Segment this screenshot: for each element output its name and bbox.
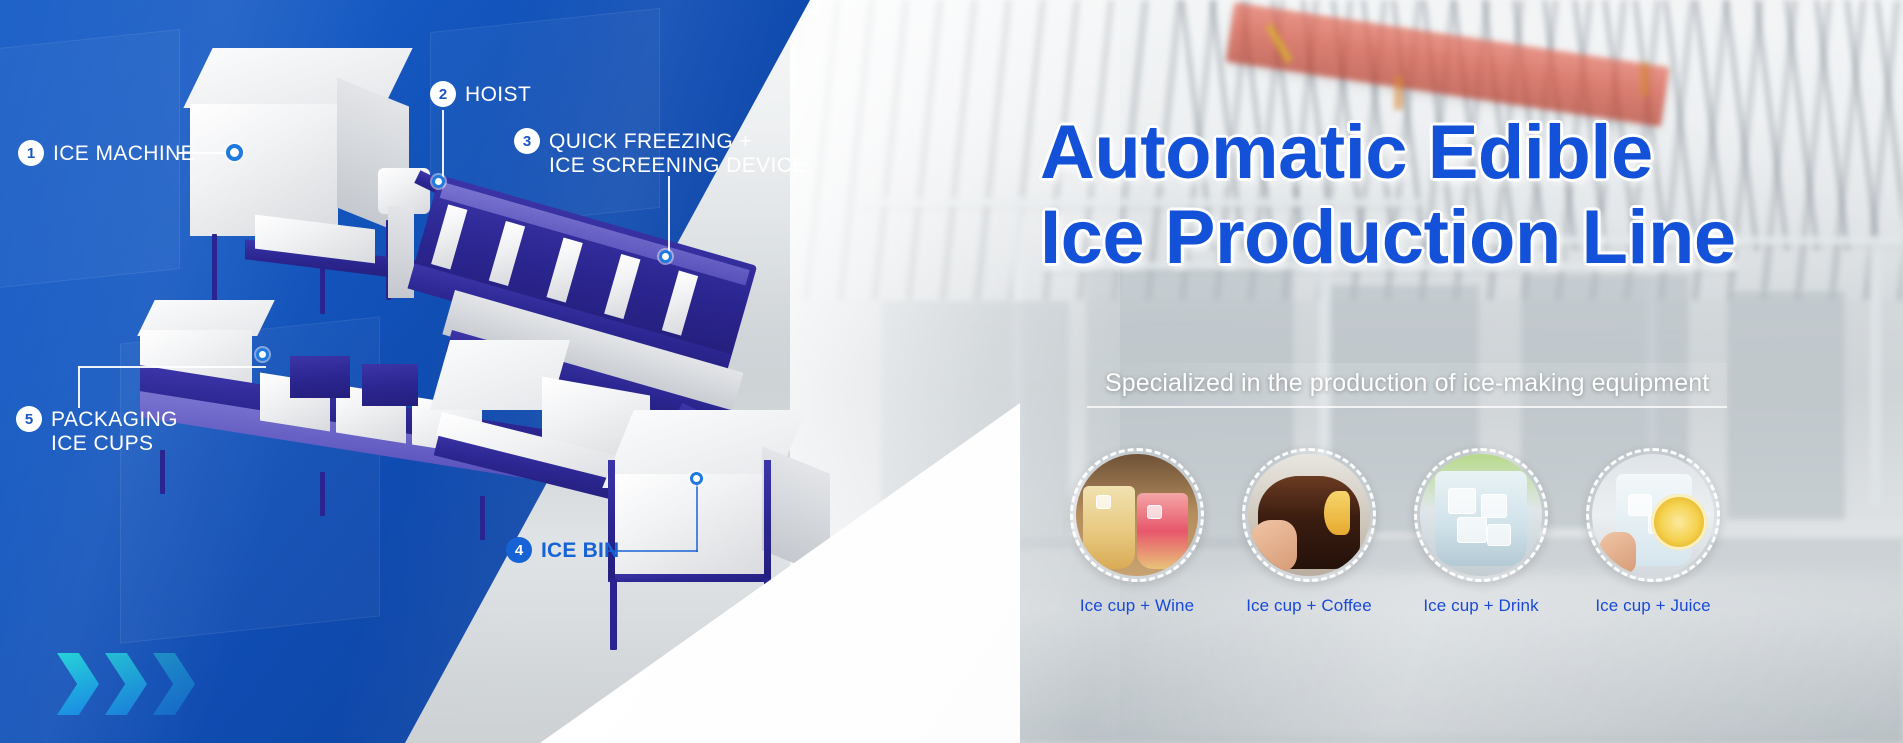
product-caption-wine: Ice cup + Wine <box>1080 596 1194 616</box>
packaging-filler-2 <box>362 364 418 406</box>
hotspot-ice-bin[interactable] <box>690 472 703 485</box>
page-subtitle: Specialized in the production of ice-mak… <box>1105 369 1709 398</box>
ice-bin-frame-right <box>764 460 771 580</box>
callout-ice-machine[interactable]: 1 ICE MACHINE <box>18 140 195 166</box>
hotspot-quick-freezing[interactable] <box>659 250 672 263</box>
page-title: Automatic Edible Ice Production Line <box>1040 110 1736 280</box>
chevron-icon-2 <box>105 653 147 715</box>
packaging-leg-2 <box>320 472 325 516</box>
chevron-icon-3 <box>153 653 195 715</box>
product-caption-juice: Ice cup + Juice <box>1595 596 1710 616</box>
wine-cup-right <box>1137 493 1188 569</box>
crane-hook-right <box>1640 62 1649 96</box>
callout-badge-4: 4 <box>506 537 532 563</box>
callout-label-packaging: PACKAGING ICE CUPS <box>51 406 178 455</box>
leader-line-4-v <box>696 480 698 552</box>
leader-line-5-v <box>78 366 80 408</box>
leader-line-2 <box>442 110 444 182</box>
callout-label-hoist: HOIST <box>465 81 531 107</box>
product-item-coffee[interactable]: Ice cup + Coffee <box>1235 448 1383 616</box>
product-caption-drink: Ice cup + Drink <box>1423 596 1538 616</box>
packaging-leg-3 <box>480 496 485 540</box>
subtitle-container: Specialized in the production of ice-mak… <box>1087 363 1727 408</box>
ice-bin-frame-bottom <box>608 574 770 582</box>
hotspot-packaging[interactable] <box>256 348 269 361</box>
callout-badge-3: 3 <box>514 128 540 154</box>
hotspot-hoist[interactable] <box>432 175 445 188</box>
callout-badge-2: 2 <box>430 81 456 107</box>
product-item-drink[interactable]: Ice cup + Drink <box>1407 448 1555 616</box>
hero-banner: 1 ICE MACHINE 2 HOIST 3 QUICK FREEZING +… <box>0 0 1903 743</box>
ice-cube-icon <box>1481 494 1507 518</box>
callout-badge-1: 1 <box>18 140 44 166</box>
crane-hook-left <box>1394 76 1403 110</box>
product-photo-juice <box>1586 448 1720 582</box>
hand-holding-glass <box>1250 520 1296 571</box>
product-item-juice[interactable]: Ice cup + Juice <box>1579 448 1727 616</box>
product-photo-drink <box>1414 448 1548 582</box>
chevron-decoration <box>57 653 195 715</box>
product-photo-wine <box>1070 448 1204 582</box>
callout-badge-5: 5 <box>16 406 42 432</box>
product-caption-coffee: Ice cup + Coffee <box>1246 596 1372 616</box>
callout-ice-bin[interactable]: 4 ICE BIN <box>506 537 619 563</box>
callout-label-ice-machine: ICE MACHINE <box>53 140 195 166</box>
hotspot-ice-machine[interactable] <box>226 144 243 161</box>
lemon-slice-icon <box>1324 491 1351 535</box>
ice-bin-front-face <box>614 474 764 578</box>
ice-bin-leg-1 <box>610 578 617 650</box>
leader-line-4 <box>606 550 698 552</box>
factory-column-4 <box>1870 236 1881 506</box>
ice-cube-icon <box>1487 524 1511 546</box>
drink-glass <box>1435 471 1528 566</box>
lemon-slice-icon <box>1651 494 1707 550</box>
packaging-filler-1 <box>290 356 350 398</box>
packaging-leg-1 <box>160 450 165 494</box>
ice-cube-icon <box>1628 494 1652 516</box>
hand-holding-glass <box>1599 532 1636 573</box>
ice-cube-icon <box>1147 505 1162 519</box>
product-photo-coffee <box>1242 448 1376 582</box>
leader-line-3 <box>668 176 670 254</box>
leader-line-5-h <box>78 366 266 368</box>
ice-cube-icon <box>1457 517 1487 543</box>
callout-quick-freezing[interactable]: 3 QUICK FREEZING + ICE SCREENING DEVICE <box>514 128 807 177</box>
product-item-wine[interactable]: Ice cup + Wine <box>1063 448 1211 616</box>
ice-cube-icon <box>1448 488 1476 514</box>
product-gallery: Ice cup + Wine Ice cup + Coffee <box>1063 448 1727 616</box>
ice-cube-icon <box>1096 495 1111 509</box>
factory-machine-5 <box>1726 290 1846 520</box>
callout-label-quick-freezing: QUICK FREEZING + ICE SCREENING DEVICE <box>549 128 807 177</box>
callout-hoist[interactable]: 2 HOIST <box>430 81 531 107</box>
chevron-icon-1 <box>57 653 99 715</box>
callout-packaging[interactable]: 5 PACKAGING ICE CUPS <box>16 406 178 455</box>
